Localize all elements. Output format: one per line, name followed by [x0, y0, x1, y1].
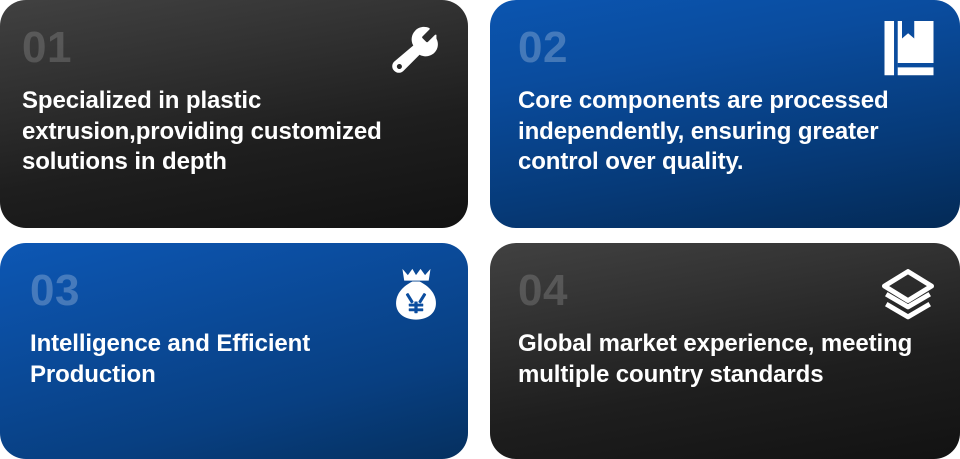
card-text-03: Intelligence and Efficient Production: [30, 329, 438, 390]
card-number-01: 01: [22, 26, 438, 70]
feature-card-03[interactable]: 03 Intelligence and Efficient Production: [0, 243, 468, 459]
feature-card-04[interactable]: 04 Global market experience, meeting mul…: [490, 243, 960, 459]
card-text-01: Specialized in plastic extrusion,providi…: [22, 86, 438, 178]
feature-card-02[interactable]: 02 Core components are processed indepen…: [490, 0, 960, 228]
feature-card-grid: 01 Specialized in plastic extrusion,prov…: [0, 0, 960, 459]
card-number-02: 02: [518, 26, 930, 70]
card-text-02: Core components are processed independen…: [518, 86, 930, 178]
card-text-04: Global market experience, meeting multip…: [518, 329, 930, 390]
feature-card-01[interactable]: 01 Specialized in plastic extrusion,prov…: [0, 0, 468, 228]
card-number-03: 03: [30, 269, 438, 313]
card-number-04: 04: [518, 269, 930, 313]
